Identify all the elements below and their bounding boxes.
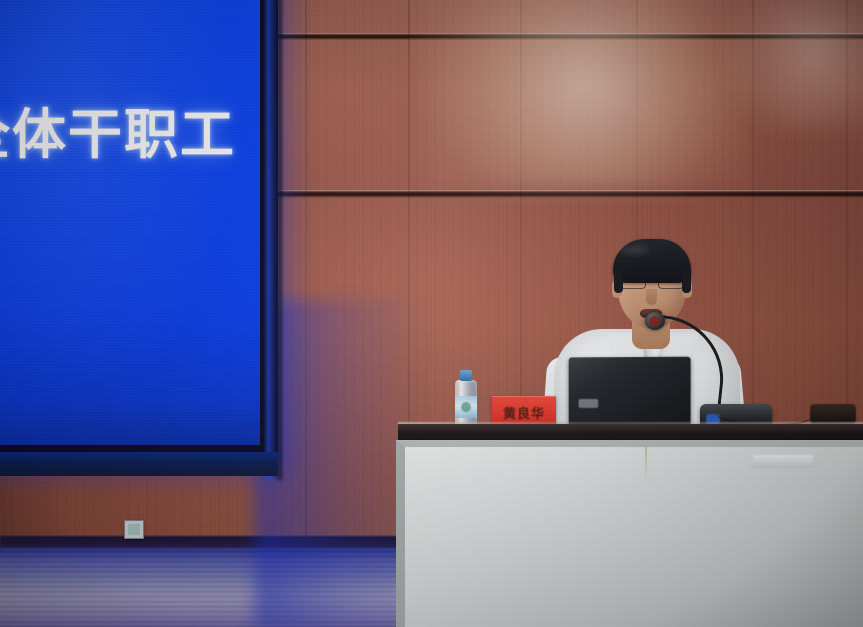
- podium-front-panel: [405, 447, 863, 627]
- bottle-cap: [460, 370, 472, 381]
- speaker-nose: [646, 289, 657, 305]
- led-screen-base: [0, 452, 278, 476]
- speaker-sideburn-right: [682, 267, 691, 293]
- speaker-podium: [396, 440, 863, 627]
- wall-light-bloom-secondary: [720, 0, 863, 130]
- water-bottle: [455, 370, 477, 428]
- nameplate-text: 黄良华: [503, 403, 545, 422]
- desk-dark-object: [810, 404, 856, 424]
- wall-light-bloom: [420, 0, 750, 190]
- led-video-wall: 全体干职工: [0, 0, 260, 445]
- speaker-sideburn-left: [614, 267, 623, 293]
- speaker-hair: [613, 239, 691, 283]
- bottle-label: [455, 396, 477, 418]
- laptop-screen-back: [569, 357, 691, 430]
- microphone-head-icon: [645, 312, 665, 330]
- led-edge-glow: [266, 0, 282, 480]
- conference-hall-photo: 全体干职工: [0, 0, 863, 627]
- wall-outlet-plate: [124, 520, 144, 539]
- led-screen-text: 全体干职工: [0, 108, 266, 162]
- podium-paper-sheet: [750, 455, 813, 468]
- led-screen-frame: 全体干职工: [0, 0, 278, 465]
- led-scanline-overlay: [0, 0, 260, 445]
- laptop-brand-logo: [579, 399, 599, 408]
- podium-seam: [645, 447, 647, 483]
